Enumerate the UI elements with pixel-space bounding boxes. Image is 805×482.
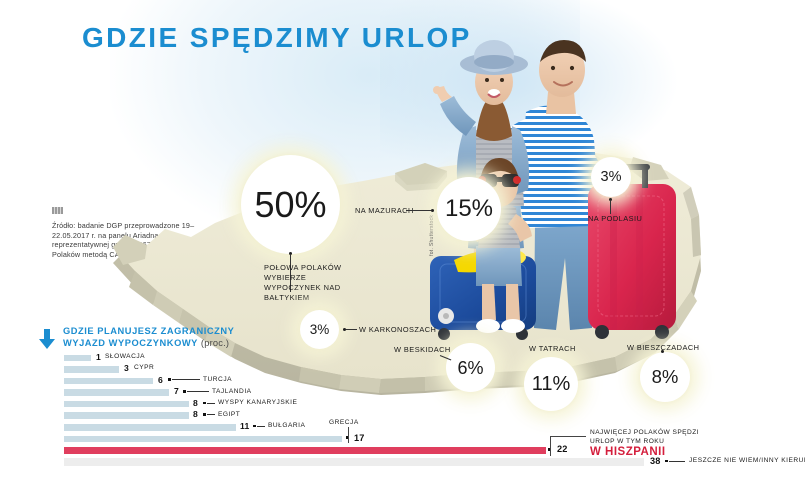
bar-tick-inny-kierunek: [665, 460, 668, 463]
chart-row: 8 WYSPY KANARYJSKIE: [38, 398, 778, 410]
chart-heading: GDZIE PLANUJESZ ZAGRANICZNY WYJAZD WYPOC…: [63, 326, 313, 349]
leader-line-hiszpania-v: [550, 436, 551, 456]
map-label-baltyk: POŁOWA POLAKÓW WYBIERZE WYPOCZYNEK NAD B…: [264, 263, 364, 303]
bar-slowacja: [64, 355, 91, 362]
chart-row: 6 TURCJA: [38, 375, 778, 387]
bar-value-hiszpania: 22: [557, 444, 568, 454]
bar-leader-wyspy-kanaryjskie: [207, 403, 215, 404]
bar-value-inny-kierunek: 38: [650, 456, 661, 466]
bar-leader-bulgaria: [257, 426, 265, 427]
bar-egipt: [64, 412, 189, 419]
bar-bulgaria: [64, 424, 236, 431]
leader-line-podlasie: [610, 200, 611, 214]
bar-label-grecja: GRECJA: [329, 419, 359, 426]
infographic-canvas: GDZIE SPĘDZIMY URLOP Źródło: badanie DGP…: [0, 0, 805, 482]
bar-label-wyspy-kanaryjskie: WYSPY KANARYJSKIE: [218, 399, 297, 406]
bar-turcja: [64, 378, 153, 385]
chart-unit: (proc.): [201, 338, 229, 348]
bar-leader-egipt: [207, 414, 215, 415]
page-title: GDZIE SPĘDZIMY URLOP: [82, 22, 472, 54]
stat-bubble-podlasie: 3%: [591, 157, 631, 197]
rm-logo-icon: [52, 207, 63, 214]
bar-tick-bulgaria: [253, 425, 256, 428]
bar-leader-turcja: [172, 379, 200, 380]
bar-value-grecja: 17: [354, 433, 365, 443]
bar-value-slowacja: 1: [96, 352, 101, 362]
bar-tick-egipt: [203, 413, 206, 416]
leader-line-hiszpania-h: [550, 436, 586, 437]
bar-inny-kierunek: [64, 458, 644, 466]
callout-hiszpania-line1: NAJWIĘCEJ POLAKÓW SPĘDZI: [590, 429, 699, 436]
bar-value-egipt: 8: [193, 409, 198, 419]
bar-grecja: [64, 436, 342, 443]
stat-value-mazury: 15%: [445, 197, 493, 221]
bar-label-inny-kierunek: JESZCZE NIE WIEM/INNY KIERUNEK: [689, 457, 805, 464]
chart-rows: 1 SŁOWACJA 3 CYPR 6 TURCJA 7: [38, 352, 778, 470]
chart-row: 22 NAJWIĘCEJ POLAKÓW SPĘDZI URLOP W TYM …: [38, 445, 778, 457]
callout-hiszpania-line2: URLOP W TYM ROKU: [590, 438, 664, 445]
bar-label-tajlandia: TAJLANDIA: [212, 388, 252, 395]
foreign-trip-chart: GDZIE PLANUJESZ ZAGRANICZNY WYJAZD WYPOC…: [38, 326, 778, 476]
bar-leader-tajlandia: [187, 391, 209, 392]
map-label-mazury: NA MAZURACH: [355, 206, 414, 215]
chart-heading-line1: GDZIE PLANUJESZ ZAGRANICZNY: [63, 326, 234, 336]
bar-tajlandia: [64, 389, 169, 396]
chart-row: 38 JESZCZE NIE WIEM/INNY KIERUNEK: [38, 456, 778, 470]
callout-hiszpania: NAJWIĘCEJ POLAKÓW SPĘDZI URLOP W TYM ROK…: [590, 428, 790, 457]
bar-label-turcja: TURCJA: [203, 376, 232, 383]
bar-tick-wyspy-kanaryjskie: [203, 402, 206, 405]
bar-tick-tajlandia: [183, 390, 186, 393]
chart-row: 1 SŁOWACJA: [38, 352, 778, 364]
bar-label-slowacja: SŁOWACJA: [105, 353, 145, 360]
leader-dot-mazury: [431, 209, 434, 212]
leader-line-grecja: [348, 427, 349, 443]
photo-credit: fot. Shutterstock: [429, 215, 435, 256]
bar-label-egipt: EGIPT: [218, 411, 240, 418]
bar-label-bulgaria: BUŁGARIA: [268, 422, 305, 429]
bar-label-cypr: CYPR: [134, 364, 154, 371]
bar-cypr: [64, 366, 119, 373]
family-photo: [430, 8, 680, 343]
bar-wyspy-kanaryjskie: [64, 401, 189, 408]
bar-value-tajlandia: 7: [174, 386, 179, 396]
bar-value-turcja: 6: [158, 375, 163, 385]
chart-heading-line2: WYJAZD WYPOCZYNKOWY: [63, 338, 198, 348]
chart-row: 7 TAJLANDIA: [38, 387, 778, 399]
leader-line-mazury: [406, 210, 431, 211]
bar-value-wyspy-kanaryjskie: 8: [193, 398, 198, 408]
arrow-down-icon: [38, 329, 56, 349]
bar-tick-turcja: [168, 378, 171, 381]
stat-bubble-baltyk: 50%: [241, 155, 340, 254]
stat-value-baltyk: 50%: [254, 187, 326, 223]
bar-value-bulgaria: 11: [240, 421, 249, 431]
bar-hiszpania: [64, 447, 546, 455]
stat-value-podlasie: 3%: [601, 170, 622, 185]
stat-bubble-mazury: 15%: [437, 177, 501, 241]
map-label-podlasie: NA PODLASIU: [588, 214, 642, 223]
bar-value-cypr: 3: [124, 363, 129, 373]
chart-row: 3 CYPR: [38, 364, 778, 376]
bar-leader-inny-kierunek: [669, 461, 685, 462]
chart-row: 8 EGIPT: [38, 410, 778, 422]
